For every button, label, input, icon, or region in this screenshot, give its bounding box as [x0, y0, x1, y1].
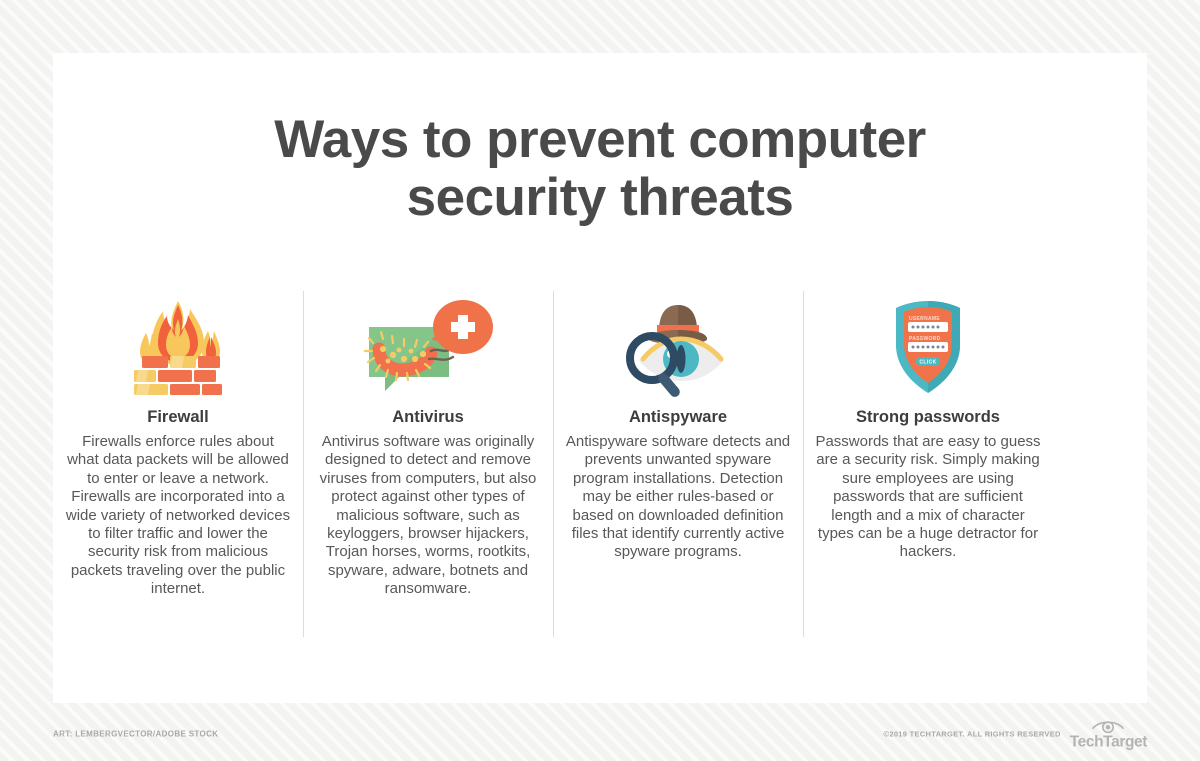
eye-logo-icon — [1091, 718, 1125, 733]
column-antivirus: Antivirus Antivirus software was origina… — [303, 291, 553, 599]
column-title: Strong passwords — [815, 407, 1041, 427]
antivirus-icon — [315, 291, 541, 395]
password-label: PASSWORD — [909, 336, 941, 342]
column-antispyware: Antispyware Antispyware software detects… — [553, 291, 803, 562]
spy-eye-icon — [639, 337, 723, 381]
antispyware-icon — [565, 291, 791, 395]
footer-right: ©2019 TECHTARGET. ALL RIGHTS RESERVED Te… — [884, 718, 1147, 750]
username-label: USERNAME — [909, 316, 940, 322]
infographic-page: Ways to prevent computer security threat… — [0, 0, 1200, 761]
column-body: Antivirus software was originally design… — [315, 433, 541, 599]
column-firewall: Firewall Firewalls enforce rules about w… — [53, 291, 303, 599]
click-button-label: CLICK — [919, 360, 936, 366]
strong-passwords-icon: USERNAME PASSWORD — [815, 291, 1041, 395]
column-title: Antispyware — [565, 407, 791, 427]
content-card: Ways to prevent computer security threat… — [53, 53, 1147, 703]
techtarget-logo: TechTarget — [1070, 718, 1147, 750]
firewall-icon — [65, 291, 291, 395]
column-title: Antivirus — [315, 407, 541, 427]
copyright-text: ©2019 TECHTARGET. ALL RIGHTS RESERVED — [884, 730, 1061, 739]
column-body: Antispyware software detects and prevent… — [565, 433, 791, 562]
techtarget-wordmark: TechTarget — [1070, 734, 1147, 750]
column-body: Passwords that are easy to guess are a s… — [815, 433, 1041, 562]
column-body: Firewalls enforce rules about what data … — [65, 433, 291, 599]
page-title: Ways to prevent computer security threat… — [53, 53, 1147, 227]
flames — [140, 301, 220, 365]
column-title: Firewall — [65, 407, 291, 427]
art-credit: ART: LEMBERGVECTOR/ADOBE STOCK — [53, 730, 218, 739]
columns-container: Firewall Firewalls enforce rules about w… — [53, 291, 1147, 599]
brick-wall — [134, 356, 222, 395]
column-strong-passwords: USERNAME PASSWORD — [803, 291, 1053, 562]
